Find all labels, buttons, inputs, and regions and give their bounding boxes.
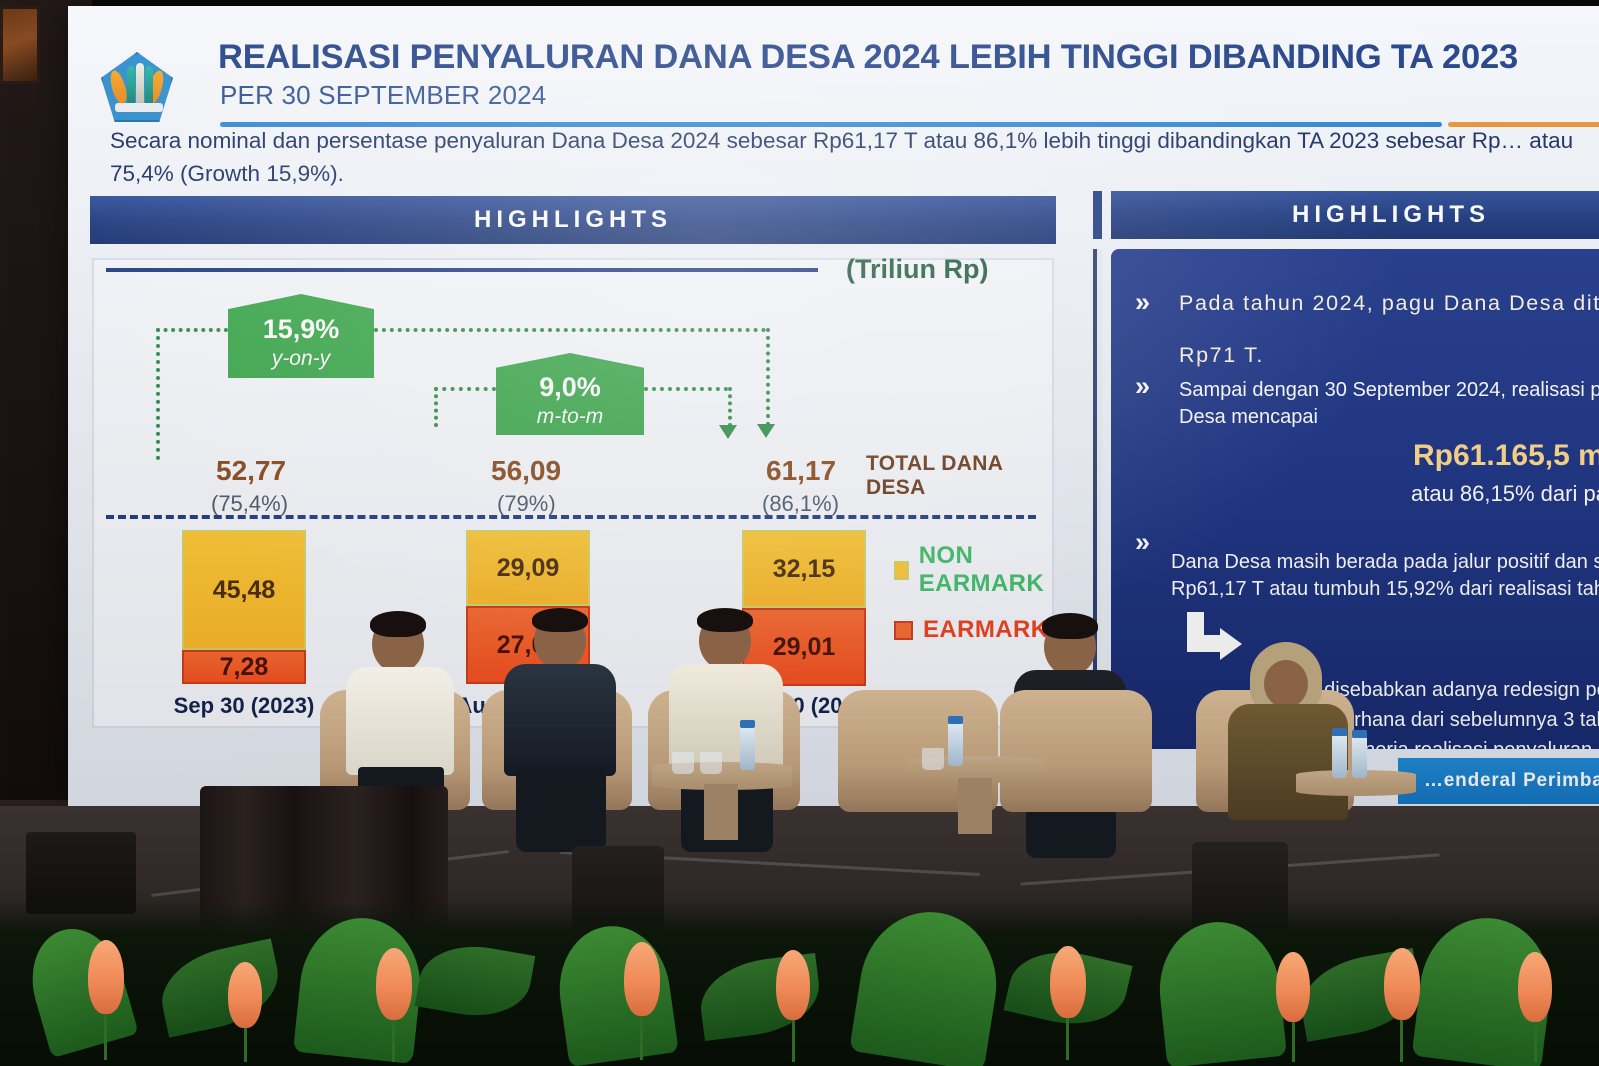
bullet-chevron-icon-1: » (1135, 371, 1150, 402)
highlight-big-sub: atau 86,15% dari pagu (1411, 481, 1599, 507)
water-bottle-2 (948, 722, 963, 766)
water-bottle-4 (1352, 736, 1367, 778)
highlight-item-2-line2: Rp61,17 T atau tumbuh 15,92% dari realis… (1171, 576, 1599, 603)
legend-item-non-earmark: NON EARMARK (894, 542, 1052, 598)
total-pct-0: (75,4%) (211, 491, 288, 517)
chart-top-rule (106, 268, 818, 272)
growth-callout-yoy-value: 15,9% (263, 314, 340, 345)
total-row-label: TOTAL DANA DESA (866, 452, 1052, 500)
bar-group-sep-2023: 45,48 7,28 Sep 30 (2023) (182, 530, 306, 685)
slide-title: REALISASI PENYALURAN DANA DESA 2024 LEBI… (218, 38, 1518, 77)
connector-mtom-right (728, 387, 732, 427)
flower-5 (776, 950, 810, 1020)
bullet-chevron-icon-0: » (1135, 287, 1150, 318)
slide-subtitle: PER 30 SEPTEMBER 2024 (220, 80, 546, 111)
legend-label-non-earmark: NON EARMARK (919, 542, 1052, 598)
bar-segment-non-earmark-2: 32,15 (742, 530, 866, 608)
side-table-2-stem (958, 778, 992, 834)
water-bottle-3 (1332, 734, 1347, 778)
growth-callout-yoy: 15,9% y-on-y (228, 294, 374, 378)
highlights-band-right-label: HIGHLIGHTS (1292, 201, 1490, 229)
flower-8 (1384, 948, 1420, 1020)
flower-1 (88, 940, 124, 1014)
bar-segment-non-earmark-0: 45,48 (182, 530, 306, 650)
flower-9 (1518, 952, 1552, 1022)
highlight-item-2-line1: Dana Desa masih berada pada jalur positi… (1171, 549, 1599, 576)
highlights-panel: » Pada tahun 2024, pagu Dana Desa diteta… (1111, 249, 1599, 749)
intro-paragraph: Secara nominal dan persentase penyaluran… (110, 124, 1599, 190)
bar-segment-earmark-0: 7,28 (182, 650, 306, 684)
highlight-big-figure: Rp61.165,5 miliar (1413, 439, 1599, 473)
highlight-item-1-line1: Sampai dengan 30 September 2024, realisa… (1179, 377, 1599, 404)
connector-yoy-arrowhead (757, 424, 775, 438)
panelist-5-body (1228, 704, 1348, 820)
growth-callout-mtom: 9,0% m-to-m (496, 353, 644, 435)
flower-2 (228, 962, 262, 1028)
flower-4 (624, 942, 660, 1016)
total-value-1: 56,09 (491, 455, 561, 487)
panelist-2 (500, 612, 622, 827)
conference-room-photo: REALISASI PENYALURAN DANA DESA 2024 LEBI… (0, 0, 1599, 1066)
highlights-band-right: HIGHLIGHTS (1111, 191, 1599, 239)
drinking-glass-1 (672, 752, 694, 774)
kementerian-keuangan-logo-icon (101, 52, 175, 124)
growth-callout-yoy-label: y-on-y (272, 347, 330, 371)
drinking-glass-3 (922, 748, 944, 770)
wall-artwork (0, 6, 40, 84)
connector-yoy-right (766, 328, 770, 426)
bar-xlabel-0: Sep 30 (2023) (166, 693, 322, 719)
bar-segment-non-earmark-1: 29,09 (466, 530, 590, 606)
chart-unit-label: (Triliun Rp) (846, 254, 988, 285)
drinking-glass-2 (700, 752, 722, 774)
highlights-band-left: HIGHLIGHTS (90, 196, 1056, 244)
panelist-4-hair (1042, 613, 1098, 639)
highlights-band-right-edge (1093, 191, 1102, 239)
slide-footer-text: …enderal Perimbangan Keua… (1424, 770, 1599, 792)
highlights-band-left-label: HIGHLIGHTS (474, 206, 672, 234)
flower-3 (376, 948, 412, 1020)
panelist-3-hair (697, 608, 753, 632)
connector-yoy-left-h (156, 328, 228, 332)
chart-divider-dashed (106, 515, 1036, 519)
total-pct-2: (86,1%) (762, 491, 839, 517)
legend-swatch-non-earmark (894, 561, 909, 580)
connector-yoy-right-h (374, 328, 766, 332)
panelist-1-body (346, 667, 454, 775)
panelist-5-head (1264, 660, 1308, 708)
projected-slide: REALISASI PENYALURAN DANA DESA 2024 LEBI… (68, 6, 1599, 806)
highlight-item-0-line2: Rp71 T. (1179, 343, 1264, 368)
slide-footer-strip: …enderal Perimbangan Keua… (1398, 758, 1599, 804)
side-table-1-stem (704, 784, 738, 840)
connector-mtom-right-h (644, 387, 728, 391)
total-value-2: 61,17 (766, 455, 836, 487)
bullet-chevron-icon-2: » (1135, 527, 1150, 558)
water-bottle-1 (740, 726, 755, 770)
total-pct-1: (79%) (497, 491, 556, 517)
connector-mtom-left-h (434, 387, 496, 391)
highlight-item-1-line2: Desa mencapai (1179, 404, 1318, 431)
growth-callout-mtom-value: 9,0% (539, 372, 601, 403)
legend-swatch-earmark (894, 621, 913, 640)
panelist-1-hair (370, 611, 426, 637)
growth-callout-mtom-label: m-to-m (537, 405, 604, 429)
flower-7 (1276, 952, 1310, 1022)
panelist-2-legs (516, 768, 606, 852)
highlight-item-0-line1: Pada tahun 2024, pagu Dana Desa ditetapk… (1179, 291, 1599, 316)
panelist-2-hair (532, 608, 588, 632)
slide-header: REALISASI PENYALURAN DANA DESA 2024 LEBI… (98, 24, 1579, 124)
panelist-2-body (504, 664, 616, 776)
chair-5 (1000, 690, 1152, 812)
connector-mtom-left (434, 387, 438, 427)
total-value-0: 52,77 (216, 455, 286, 487)
connector-mtom-arrowhead (719, 425, 737, 439)
connector-yoy-left (156, 328, 160, 460)
flower-6 (1050, 946, 1086, 1018)
